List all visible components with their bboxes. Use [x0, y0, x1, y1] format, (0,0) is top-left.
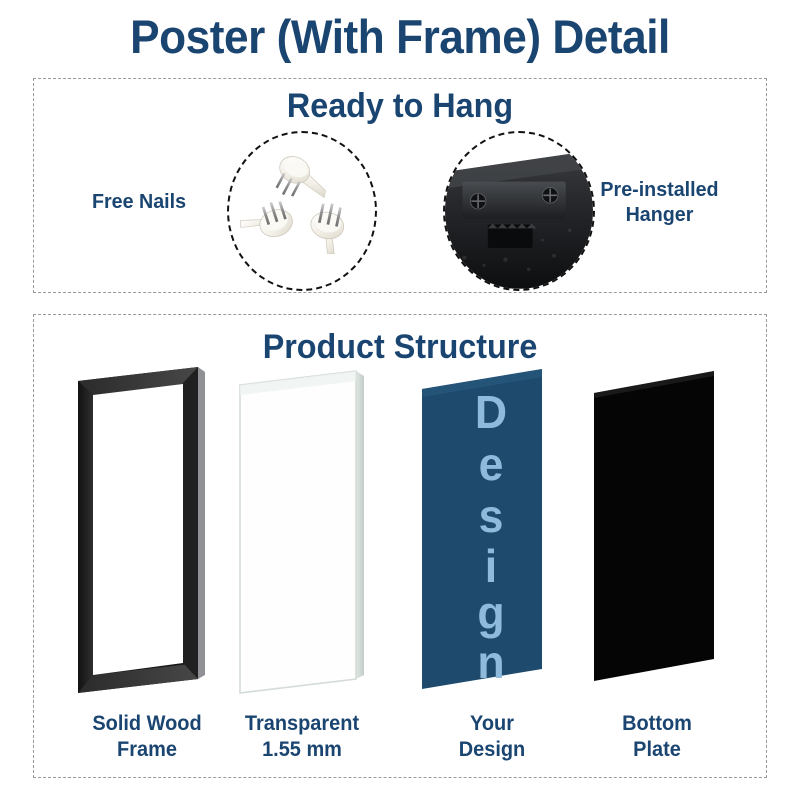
page-title: Poster (With Frame) Detail: [24, 8, 776, 66]
ready-to-hang-body: Free Nails: [34, 129, 766, 291]
caption-line-2: 1.55 mm: [217, 737, 388, 763]
structure-captions-row: Solid Wood Frame Transparent 1.55 mm You…: [34, 711, 766, 775]
caption-bottom-plate: Bottom Plate: [572, 711, 743, 762]
caption-line-1: Transparent: [217, 711, 388, 737]
transparent-sheet-illustration: [234, 367, 384, 697]
bottom-plate-shape: [586, 367, 736, 697]
caption-line-2: Plate: [572, 737, 743, 763]
caption-line-2: Design: [407, 737, 578, 763]
caption-transparent-sheet: Transparent 1.55 mm: [217, 711, 388, 762]
caption-line-1: Your: [407, 711, 578, 737]
caption-your-design: Your Design: [407, 711, 578, 762]
product-structure-heading: Product Structure: [52, 327, 747, 367]
poster-detail-infographic: Poster (With Frame) Detail Ready to Hang…: [0, 0, 800, 800]
white-plastic-hook-nails-photo: [229, 133, 375, 289]
caption-solid-wood-frame: Solid Wood Frame: [62, 711, 233, 762]
caption-line-1: Solid Wood: [62, 711, 233, 737]
design-panel-shape: [416, 367, 566, 697]
pre-installed-hanger-label: Pre-installed Hanger: [571, 177, 749, 227]
transparent-sheet-shape: [234, 367, 384, 697]
solid-wood-frame-illustration: [72, 367, 222, 697]
frame-shape: [72, 367, 222, 697]
caption-line-2: Frame: [62, 737, 233, 763]
structure-parts-row: D e s i g n: [34, 367, 766, 697]
ready-to-hang-panel: Ready to Hang Free Nails: [33, 78, 767, 293]
ready-to-hang-heading: Ready to Hang: [52, 86, 747, 126]
free-nails-label: Free Nails: [57, 189, 220, 214]
bottom-plate-illustration: [586, 367, 736, 697]
your-design-illustration: D e s i g n: [416, 367, 566, 697]
free-nails-photo-frame: [227, 131, 377, 291]
product-structure-panel: Product Structure: [33, 314, 767, 778]
caption-line-1: Bottom: [572, 711, 743, 737]
